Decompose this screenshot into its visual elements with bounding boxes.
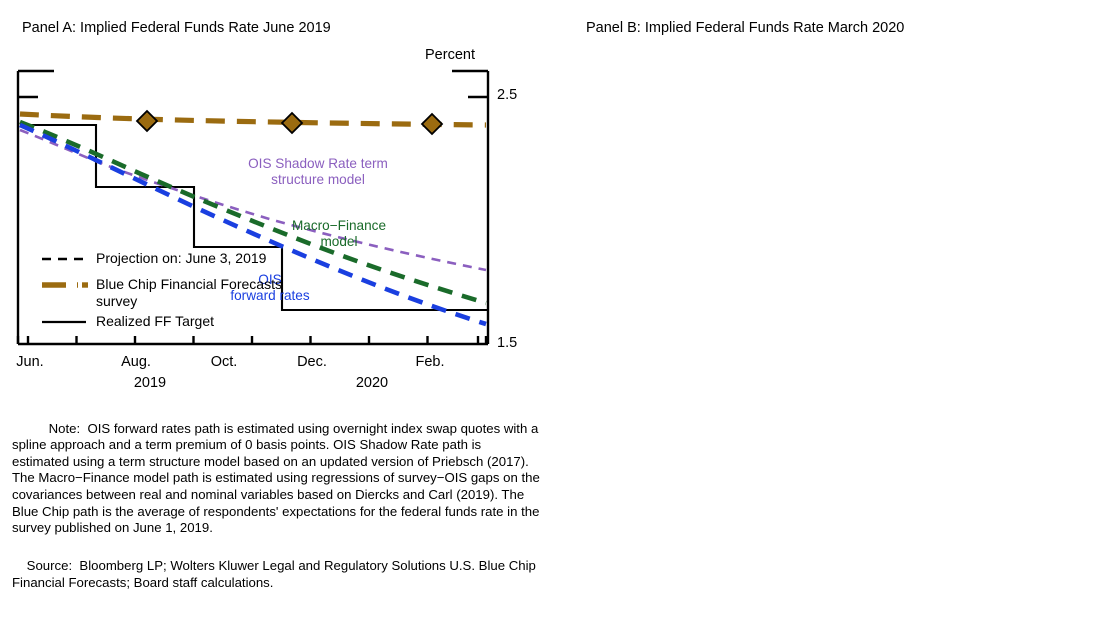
figure-root: Panel A: Implied Federal Funds Rate June… (0, 0, 1100, 577)
panel-a-xtick-2: Oct. (211, 354, 238, 370)
panel-a-xtick-3: Dec. (297, 354, 327, 370)
panel-a-title: Panel A: Implied Federal Funds Rate June… (22, 20, 331, 36)
panel-a-note-text: Note: OIS forward rates path is estimate… (12, 421, 543, 536)
panel-a-series-blue-chip (20, 114, 486, 125)
panel-a-notes: Note: OIS forward rates path is estimate… (12, 404, 540, 625)
panel-a-plot: OIS Shadow Rate term structure model Mac… (16, 70, 490, 345)
panel-a-unit-label: Percent (425, 47, 475, 63)
panel-a-xtick-4: Feb. (415, 354, 444, 370)
panel-a-year-left: 2019 (134, 375, 166, 391)
panel-b-title: Panel B: Implied Federal Funds Rate Marc… (586, 20, 904, 36)
panel-a-year-right: 2020 (356, 375, 388, 391)
panel-a: Panel A: Implied Federal Funds Rate June… (0, 0, 550, 577)
panel-a-legend-label-2: Realized FF Target (96, 313, 214, 330)
panel-a-xtick-1: Aug. (121, 354, 151, 370)
panel-a-annotation-shadow: OIS Shadow Rate term structure model (248, 156, 388, 188)
panel-a-source-text: Source: Bloomberg LP; Wolters Kluwer Leg… (12, 558, 540, 591)
panel-a-legend-label-0: Projection on: June 3, 2019 (96, 250, 266, 267)
panel-a-ytick-0: 2.5 (497, 87, 517, 103)
panel-a-xtick-0: Jun. (16, 354, 43, 370)
panel-a-ytick-1: 1.5 (497, 335, 517, 351)
panel-a-legend-label-1: Blue Chip Financial Forecasts survey (96, 276, 282, 309)
panel-b: Panel B: Implied Federal Funds Rate Marc… (550, 0, 1100, 577)
panel-a-annotation-macro: Macro−Finance model (292, 218, 386, 250)
